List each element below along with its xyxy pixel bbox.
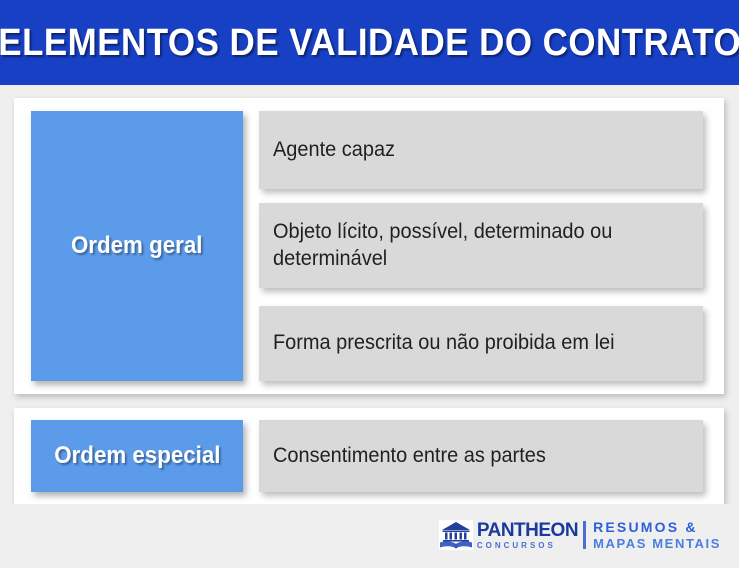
header-banner: ELEMENTOS DE VALIDADE DO CONTRATO	[0, 0, 739, 85]
item-label: Consentimento entre as partes	[273, 443, 546, 469]
brand-name: PANTHEON	[477, 521, 578, 540]
item-label: Objeto lícito, possível, determinado ou …	[273, 219, 668, 272]
item-box-consentimento: Consentimento entre as partes	[259, 420, 703, 492]
tagline-line-1: RESUMOS &	[593, 519, 721, 536]
brand-tagline: RESUMOS & MAPAS MENTAIS	[593, 519, 721, 551]
item-box-agente-capaz: Agente capaz	[259, 111, 703, 189]
tagline-line-2: MAPAS MENTAIS	[593, 536, 721, 551]
brand-wordmark: PANTHEON CONCURSOS	[477, 521, 578, 550]
brand-logo: PANTHEON CONCURSOS RESUMOS & MAPAS MENTA…	[439, 518, 721, 552]
infographic-root: ELEMENTOS DE VALIDADE DO CONTRATO Ordem …	[0, 0, 739, 568]
category-label-ordem-geral: Ordem geral	[71, 234, 202, 258]
page-title: ELEMENTOS DE VALIDADE DO CONTRATO	[0, 24, 739, 62]
item-label: Agente capaz	[273, 137, 395, 163]
category-label-ordem-especial: Ordem especial	[54, 444, 220, 468]
category-box-ordem-especial: Ordem especial	[31, 420, 243, 492]
footer: PANTHEON CONCURSOS RESUMOS & MAPAS MENTA…	[0, 504, 739, 568]
pantheon-building-icon	[439, 520, 473, 550]
item-box-forma-prescrita: Forma prescrita ou não proibida em lei	[259, 306, 703, 381]
category-box-ordem-geral: Ordem geral	[31, 111, 243, 381]
item-label: Forma prescrita ou não proibida em lei	[273, 330, 615, 356]
item-box-objeto-licito: Objeto lícito, possível, determinado ou …	[259, 203, 703, 288]
brand-subtitle: CONCURSOS	[477, 542, 578, 550]
logo-divider	[583, 521, 586, 549]
